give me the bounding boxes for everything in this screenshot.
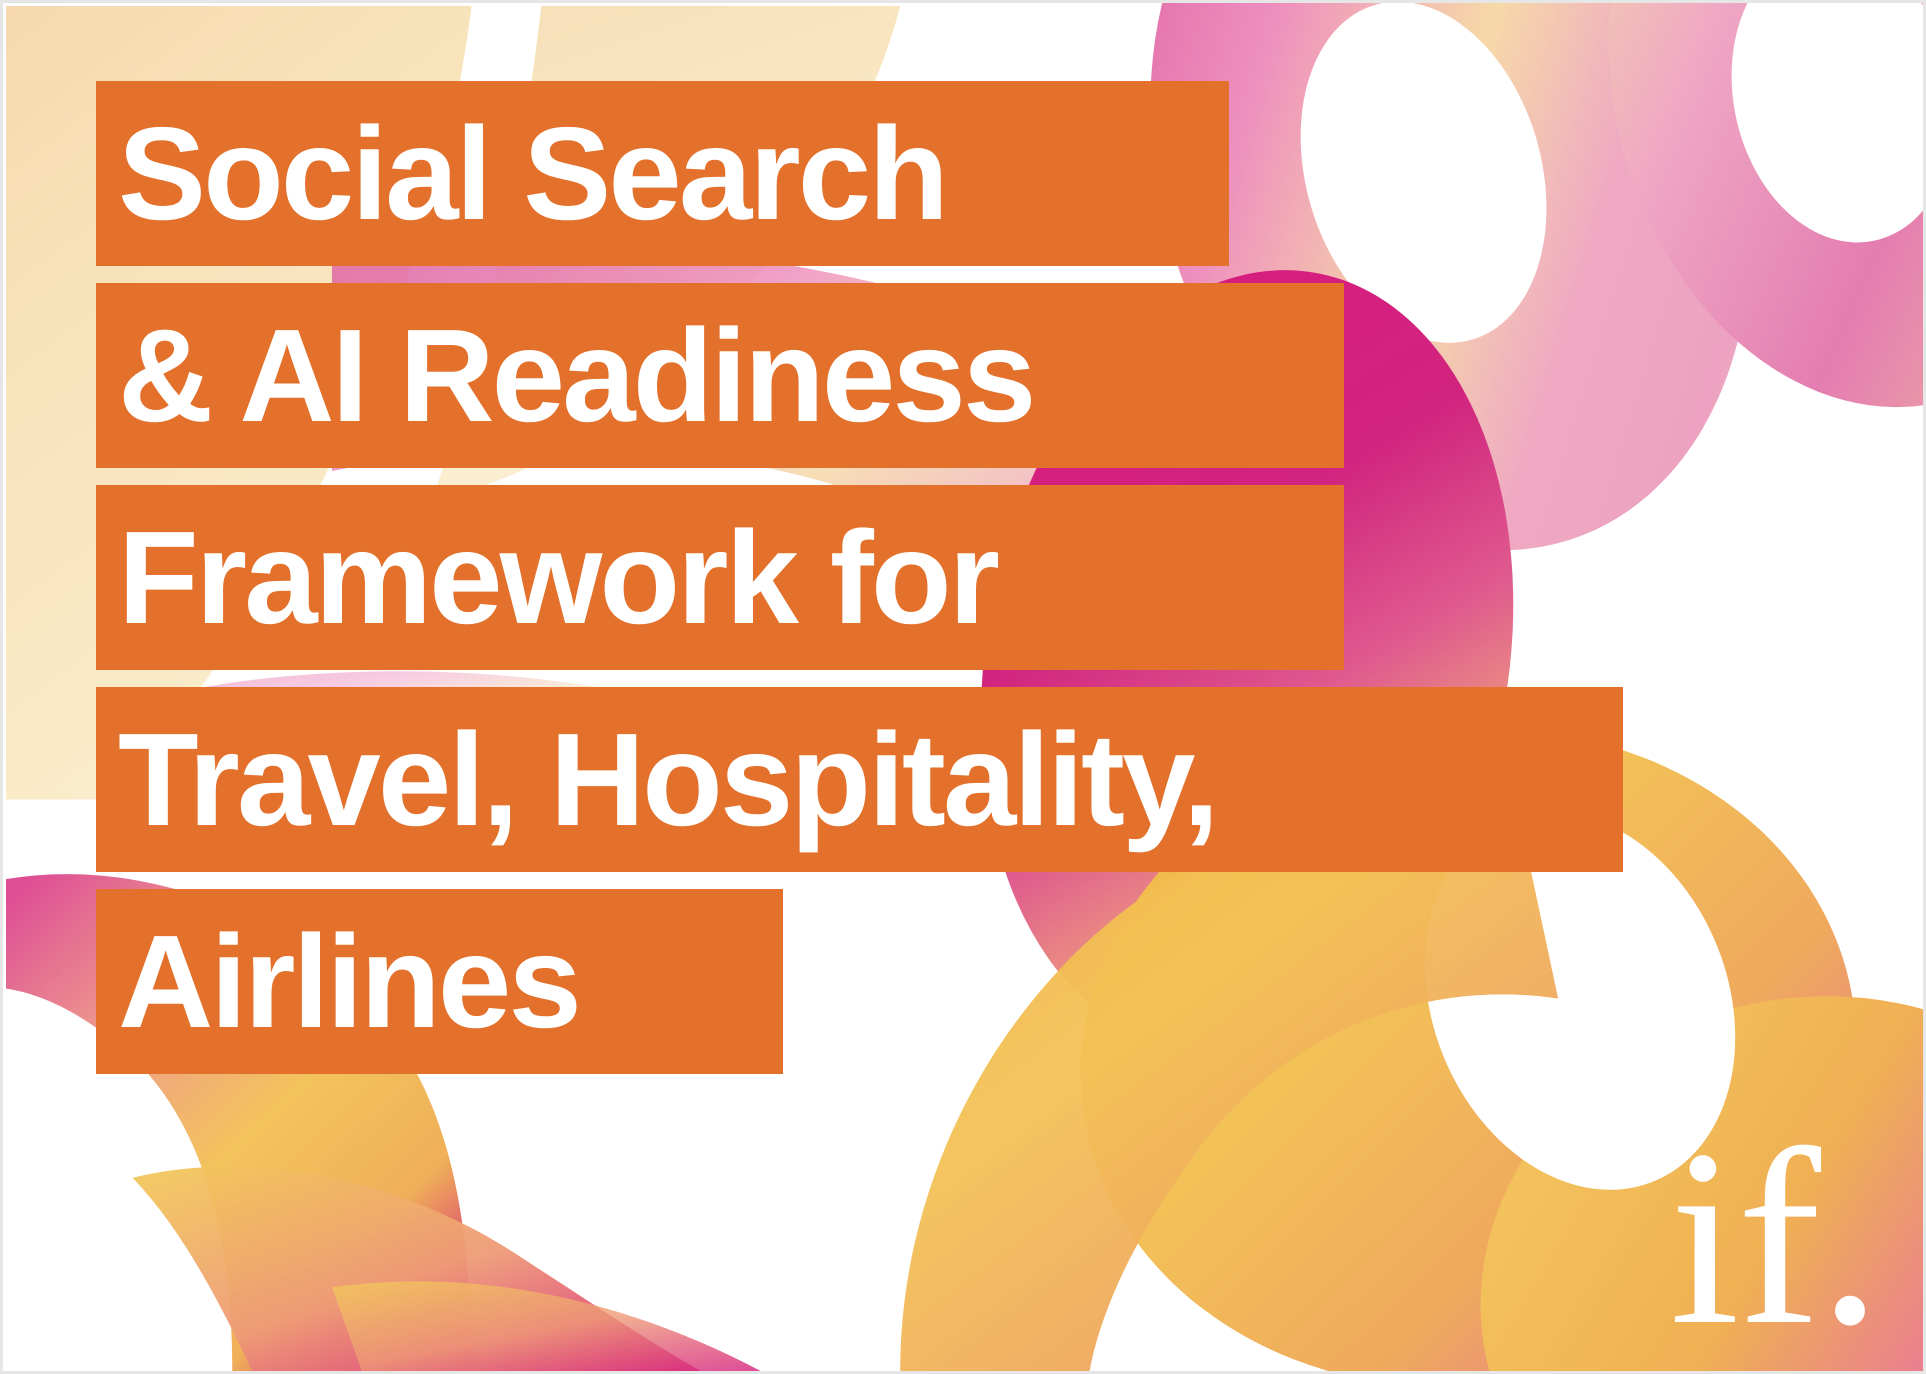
headline-line-5: Airlines: [96, 889, 783, 1074]
headline-block: Social Search & AI Readiness Framework f…: [3, 3, 1923, 1371]
headline-line-3: Framework for: [96, 485, 1344, 670]
brand-logo: if.: [1670, 1111, 1879, 1363]
headline-line-2: & AI Readiness: [96, 283, 1344, 468]
title-slide: Social Search & AI Readiness Framework f…: [0, 0, 1926, 1374]
headline-line-4: Travel, Hospitality,: [96, 687, 1623, 872]
headline-line-1: Social Search: [96, 81, 1229, 266]
